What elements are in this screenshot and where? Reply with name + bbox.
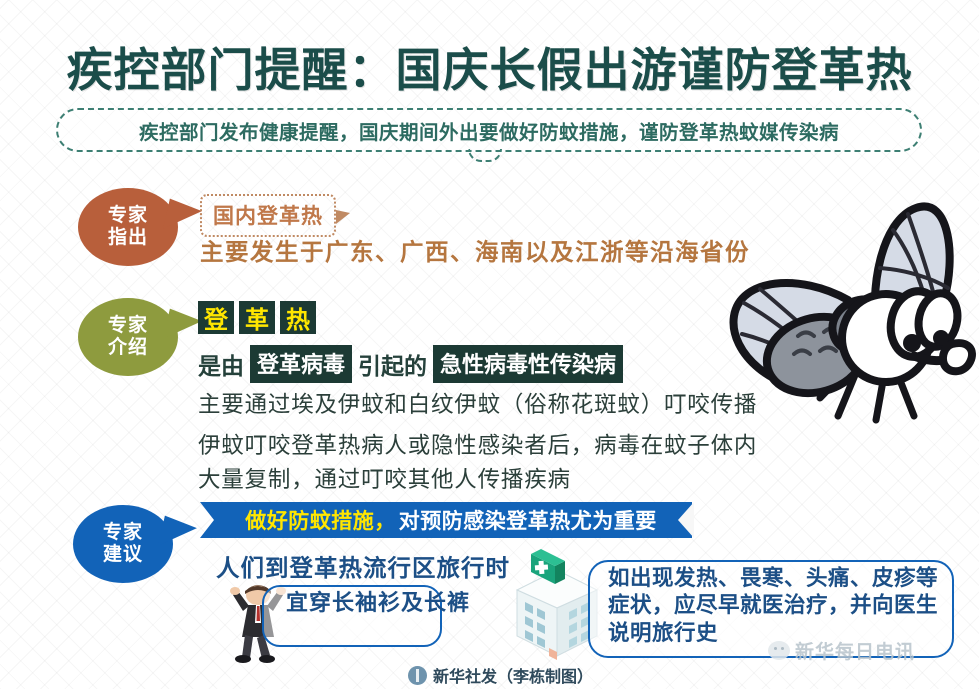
symptom-advice-text: 如出现发热、畏寒、头痛、皮疹等症状，应尽早就医治疗，并向医生说明旅行史 (608, 565, 938, 647)
dengue-virus-highlight: 登革病毒 (250, 345, 352, 383)
ribbon-highlight-text: 做好防蚊措施， (245, 505, 396, 535)
expert-badge-introduces: 专家 介绍 (78, 298, 178, 376)
speech-tail-icon (163, 199, 203, 237)
subtitle-bubble-tail (468, 149, 502, 162)
wechat-icon (768, 641, 790, 660)
expert-badge-line2: 介绍 (108, 337, 148, 359)
xinhua-logo-icon (408, 666, 427, 685)
prevention-ribbon-banner: 做好防蚊措施， 对预防感染登革热尤为重要 (200, 502, 692, 538)
expert-badge-line1: 专家 (103, 522, 143, 544)
section2-line3: 伊蚊叮咬登革热病人或隐性感染者后，病毒在蚊子体内 (198, 428, 757, 460)
expert-badge-line2: 指出 (108, 227, 148, 249)
watermark-text: 新华每日电讯 (795, 637, 915, 664)
section2-line2: 主要通过埃及伊蚊和白纹伊蚊（俗称花斑蚊）叮咬传播 (198, 387, 757, 419)
dengue-chip: 热 (280, 301, 316, 334)
definition-prefix: 是由 (198, 347, 244, 381)
dengue-chip: 登 (198, 301, 234, 334)
credit-text: 新华社发（李栋制图） (433, 663, 593, 687)
page-title: 疾控部门提醒：国庆长假出游谨防登革热 (0, 34, 979, 100)
speech-tail-icon (158, 516, 198, 554)
expert-badge-advises: 专家 建议 (73, 505, 173, 583)
expert-badge-line1: 专家 (108, 315, 148, 337)
mosquito-icon (700, 148, 979, 483)
watermark: 新华每日电讯 (768, 637, 915, 664)
credit-line: 新华社发（李栋制图） (408, 663, 593, 687)
expert-badge-line2: 建议 (103, 544, 143, 566)
section2-line4: 大量复制，通过叮咬其他人传播疾病 (198, 462, 571, 494)
definition-middle: 引起的 (358, 347, 427, 381)
dotted-tag-tail-icon (336, 210, 350, 224)
section1-statement: 主要发生于广东、广西、海南以及江浙等沿海省份 (200, 233, 750, 267)
expert-badge-line1: 专家 (108, 205, 148, 227)
dengue-title-chips: 登 革 热 (198, 301, 316, 334)
subtitle-text: 疾控部门发布健康提醒，国庆期间外出要做好防蚊措施，谨防登革热蚊媒传染病 (139, 116, 839, 145)
clothing-advice-text: 宜穿长袖衫及长裤 (286, 590, 470, 617)
ribbon-rest-text: 对预防感染登革热尤为重要 (399, 505, 657, 535)
expert-badge-points-out: 专家 指出 (78, 188, 178, 266)
domestic-dengue-tag: 国内登革热 (200, 194, 336, 237)
acute-infectious-highlight: 急性病毒性传染病 (433, 345, 623, 383)
subtitle-bubble: 疾控部门发布健康提醒，国庆期间外出要做好防蚊措施，谨防登革热蚊媒传染病 (56, 108, 922, 152)
infographic-poster: 疾控部门提醒：国庆长假出游谨防登革热 疾控部门发布健康提醒，国庆期间外出要做好防… (0, 0, 979, 689)
dengue-chip: 革 (239, 301, 275, 334)
section2-definition-line: 是由 登革病毒 引起的 急性病毒性传染病 (198, 345, 623, 383)
